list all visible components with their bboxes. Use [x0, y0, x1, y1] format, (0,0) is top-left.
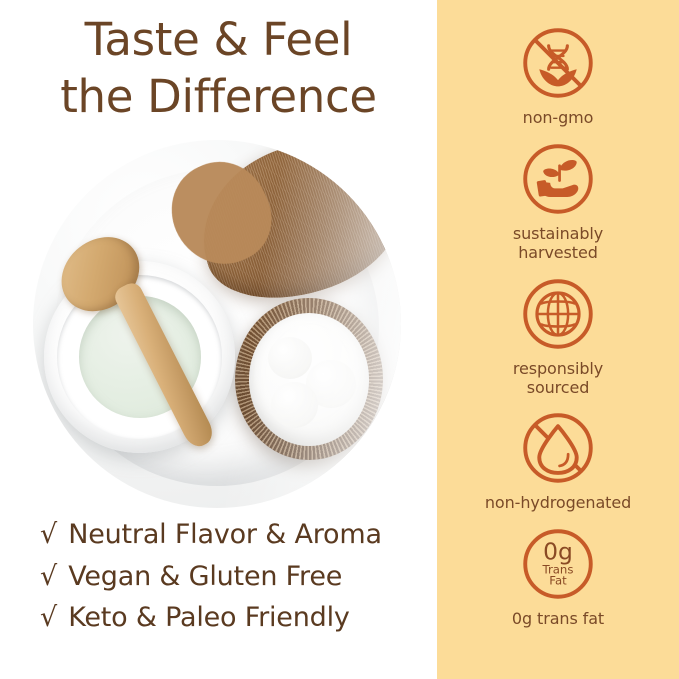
- list-item-label: Neutral Flavor & Aroma: [68, 520, 382, 550]
- certification-badge-panel: non-gmo sustainably harvested: [437, 0, 679, 679]
- photo-edge-fade: [33, 140, 401, 508]
- badge-sustainably-harvested: sustainably harvested: [437, 140, 679, 263]
- list-item: √ Vegan & Gluten Free: [40, 562, 430, 592]
- badge-non-hydrogenated: non-hydrogenated: [437, 409, 679, 513]
- badge-label: 0g trans fat: [512, 610, 604, 629]
- list-item-label: Keto & Paleo Friendly: [68, 603, 349, 633]
- badge-label: non-gmo: [523, 109, 594, 128]
- feature-bullet-list: √ Neutral Flavor & Aroma √ Vegan & Glute…: [40, 520, 430, 645]
- page-title: Taste & Feel the Difference: [0, 12, 437, 125]
- fat-text: Fat: [549, 574, 567, 588]
- photo-circle-mask: [33, 140, 401, 508]
- zero-g-trans-fat-icon: 0g Trans Fat: [519, 525, 597, 603]
- badge-label: non-hydrogenated: [485, 494, 631, 513]
- hand-holding-sprout-icon: [519, 140, 597, 218]
- badge-label: sustainably harvested: [513, 225, 603, 263]
- non-gmo-dna-leaf-icon: [519, 24, 597, 102]
- list-item: √ Keto & Paleo Friendly: [40, 603, 430, 633]
- badge-responsibly-sourced: responsibly sourced: [437, 275, 679, 398]
- no-droplet-icon: [519, 409, 597, 487]
- product-photo: [33, 140, 401, 508]
- list-item: √ Neutral Flavor & Aroma: [40, 520, 430, 550]
- badge-non-gmo: non-gmo: [437, 24, 679, 128]
- product-feature-graphic: Taste & Feel the Difference: [0, 0, 679, 679]
- left-content-panel: Taste & Feel the Difference: [0, 0, 437, 679]
- check-icon: √: [40, 521, 57, 548]
- list-item-label: Vegan & Gluten Free: [68, 562, 342, 592]
- badge-label: responsibly sourced: [513, 360, 603, 398]
- check-icon: √: [40, 563, 57, 590]
- globe-icon: [519, 275, 597, 353]
- badge-zero-trans-fat: 0g Trans Fat 0g trans fat: [437, 525, 679, 629]
- check-icon: √: [40, 604, 57, 631]
- zero-g-text: 0g: [543, 538, 573, 566]
